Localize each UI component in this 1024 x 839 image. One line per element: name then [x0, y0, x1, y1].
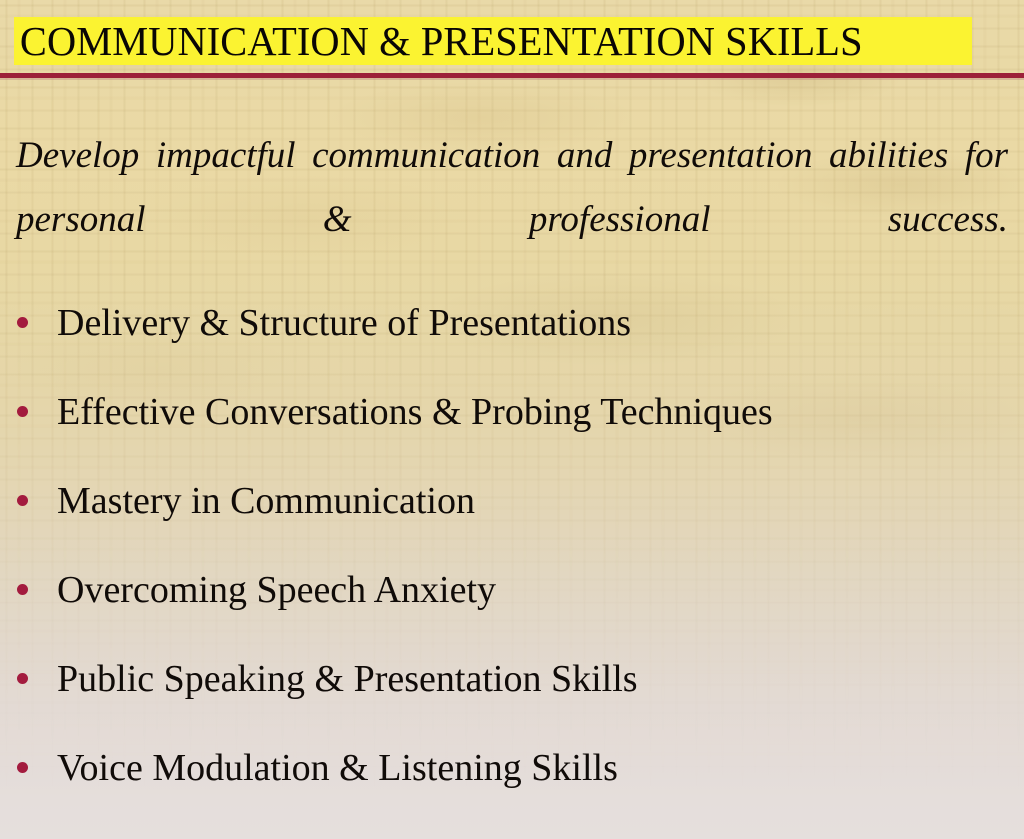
bullet-dot-icon: [17, 584, 28, 595]
bullet-dot-icon: [17, 317, 28, 328]
title-divider-rule-shadow: [0, 78, 1024, 80]
list-item-label: Delivery & Structure of Presentations: [57, 302, 631, 344]
slide-canvas: COMMUNICATION & PRESENTATION SKILLS Deve…: [0, 0, 1024, 839]
slide-title: COMMUNICATION & PRESENTATION SKILLS: [14, 19, 863, 63]
bullet-list: Delivery & Structure of Presentations Ef…: [0, 278, 1024, 812]
list-item: Overcoming Speech Anxiety: [0, 545, 1024, 634]
list-item: Public Speaking & Presentation Skills: [0, 634, 1024, 723]
list-item-label: Overcoming Speech Anxiety: [57, 569, 496, 611]
bullet-dot-icon: [17, 673, 28, 684]
list-item-label: Public Speaking & Presentation Skills: [57, 658, 638, 700]
bullet-dot-icon: [17, 495, 28, 506]
list-item: Effective Conversations & Probing Techni…: [0, 367, 1024, 456]
list-item: Delivery & Structure of Presentations: [0, 278, 1024, 367]
title-highlight-band: COMMUNICATION & PRESENTATION SKILLS: [14, 17, 972, 65]
list-item-label: Voice Modulation & Listening Skills: [57, 747, 618, 789]
list-item: Voice Modulation & Listening Skills: [0, 723, 1024, 812]
bullet-dot-icon: [17, 406, 28, 417]
bullet-dot-icon: [17, 762, 28, 773]
list-item: Mastery in Communication: [0, 456, 1024, 545]
list-item-label: Effective Conversations & Probing Techni…: [57, 391, 773, 433]
list-item-label: Mastery in Communication: [57, 480, 475, 522]
